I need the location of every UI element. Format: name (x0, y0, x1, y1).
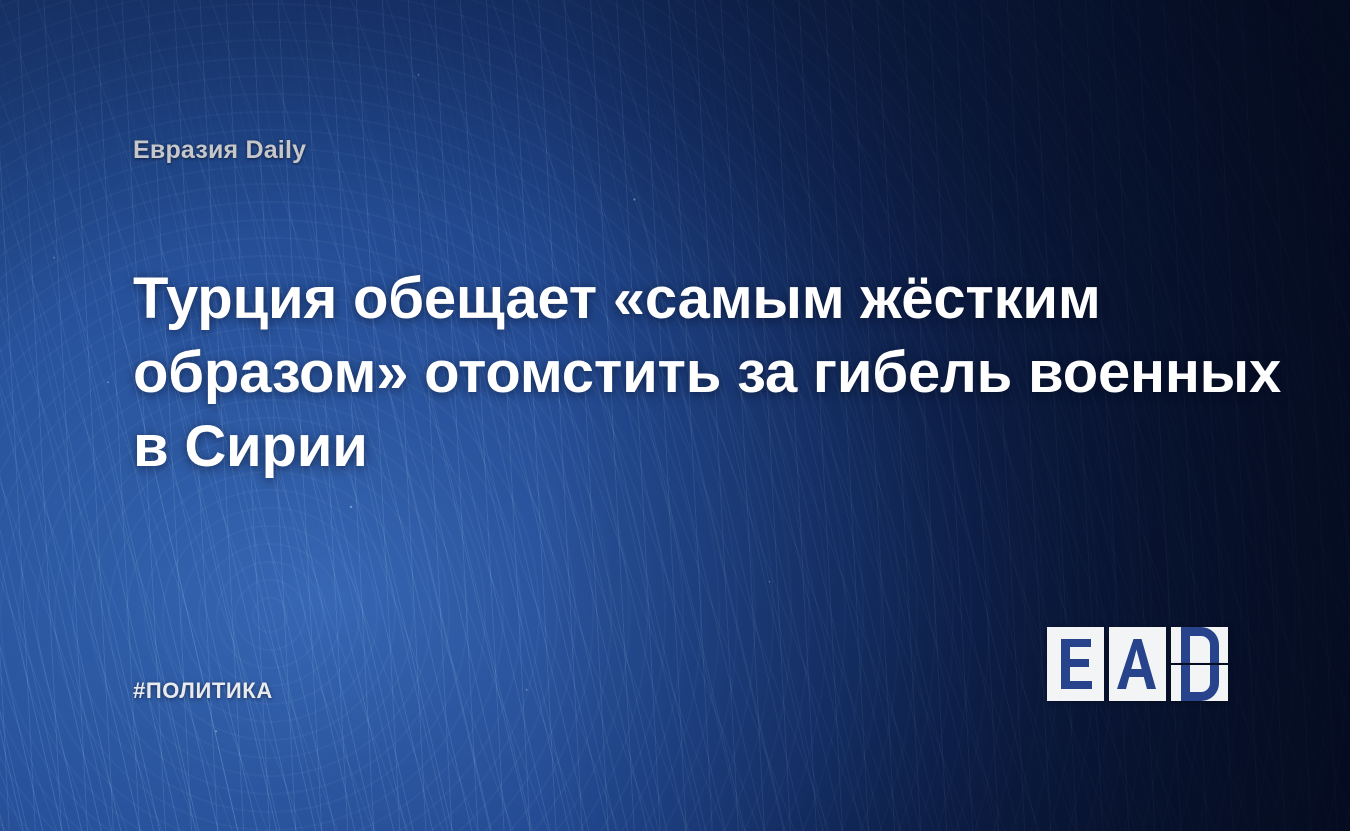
card-content: Евразия Daily Турция обещает «самым жёст… (0, 0, 1350, 831)
category-hashtag[interactable]: #ПОЛИТИКА (133, 678, 273, 704)
letter-a-icon (1109, 627, 1166, 701)
logo-tile-e (1047, 627, 1104, 701)
page-title: Турция обещает «самым жёстким образом» о… (133, 262, 1223, 484)
brand-name: Евразия Daily (133, 136, 306, 165)
letter-d-upper-icon (1171, 627, 1228, 663)
news-share-card: Евразия Daily Турция обещает «самым жёст… (0, 0, 1350, 831)
logo-half-d-lower (1171, 665, 1228, 701)
logo-tile-a (1109, 627, 1166, 701)
letter-e-icon (1047, 627, 1104, 701)
headline-line-3: в Сирии (133, 410, 1223, 484)
logo-tile-d (1171, 627, 1228, 701)
eadaily-logo[interactable] (1047, 627, 1229, 701)
letter-d-lower-icon (1171, 665, 1228, 701)
headline-line-2: образом» отомстить за гибель военных (133, 336, 1223, 410)
headline-line-1: Турция обещает «самым жёстким (133, 262, 1223, 336)
logo-half-d-upper (1171, 627, 1228, 663)
